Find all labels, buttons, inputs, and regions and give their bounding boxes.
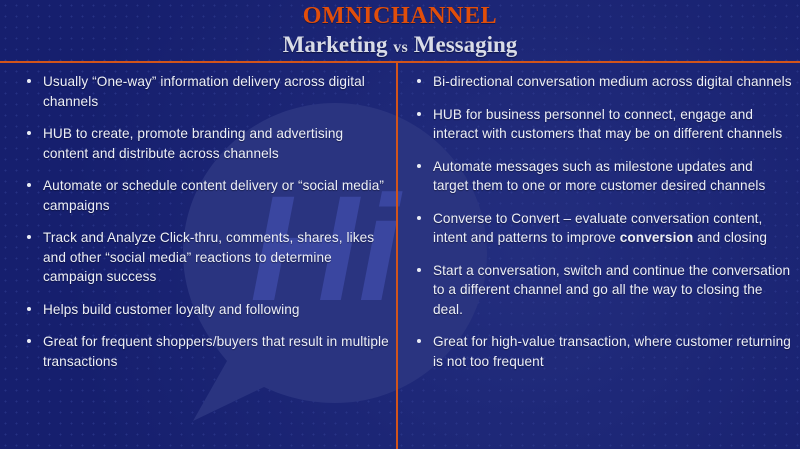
list-item-label: Helps build customer loyalty and followi…	[43, 302, 300, 317]
bullet-dot-icon	[417, 79, 421, 83]
bullet-dot-icon	[27, 131, 31, 135]
subtitle-marketing: Marketing	[283, 32, 388, 57]
list-item-emphasis: conversion	[620, 230, 694, 245]
list-item-label: Great for frequent shoppers/buyers that …	[43, 334, 389, 369]
list-item: Automate or schedule content delivery or…	[14, 176, 392, 215]
slide-canvas: Hi OMNICHANNEL Marketing vs Messaging Us…	[0, 0, 800, 449]
bullet-dot-icon	[417, 164, 421, 168]
bullet-dot-icon	[417, 339, 421, 343]
list-item: Start a conversation, switch and continu…	[404, 261, 792, 320]
list-item: Usually “One-way” information delivery a…	[14, 72, 392, 111]
column-divider-rule	[396, 63, 398, 449]
list-item: HUB to create, promote branding and adve…	[14, 124, 392, 163]
marketing-bullet-list: Usually “One-way” information delivery a…	[14, 63, 392, 371]
list-item: Great for frequent shoppers/buyers that …	[14, 332, 392, 371]
bullet-dot-icon	[27, 235, 31, 239]
subtitle-vs: vs	[393, 39, 408, 56]
list-item-label: Track and Analyze Click-thru, comments, …	[43, 230, 374, 284]
list-item: Great for high-value transaction, where …	[404, 332, 792, 371]
list-item-label: Automate messages such as milestone upda…	[433, 159, 765, 194]
bullet-dot-icon	[27, 339, 31, 343]
bullet-dot-icon	[417, 112, 421, 116]
marketing-column: Usually “One-way” information delivery a…	[14, 63, 392, 384]
list-item: HUB for business personnel to connect, e…	[404, 105, 792, 144]
list-item-label: HUB to create, promote branding and adve…	[43, 126, 343, 161]
header-divider-rule	[0, 61, 800, 63]
list-item: Converse to Convert – evaluate conversat…	[404, 209, 792, 248]
messaging-bullet-list: Bi-directional conversation medium acros…	[404, 63, 792, 371]
messaging-column: Bi-directional conversation medium acros…	[404, 63, 792, 384]
list-item-label: Usually “One-way” information delivery a…	[43, 74, 365, 109]
page-title: OMNICHANNEL	[0, 0, 800, 29]
bullet-dot-icon	[27, 79, 31, 83]
list-item-label: Bi-directional conversation medium acros…	[433, 74, 792, 89]
list-item-label: Automate or schedule content delivery or…	[43, 178, 384, 213]
list-item: Bi-directional conversation medium acros…	[404, 72, 792, 92]
list-item: Track and Analyze Click-thru, comments, …	[14, 228, 392, 287]
list-item-label: Start a conversation, switch and continu…	[433, 263, 790, 317]
bullet-dot-icon	[27, 307, 31, 311]
slide-header: OMNICHANNEL Marketing vs Messaging	[0, 0, 800, 62]
bullet-dot-icon	[417, 216, 421, 220]
bullet-dot-icon	[417, 268, 421, 272]
list-item-label: HUB for business personnel to connect, e…	[433, 107, 782, 142]
bullet-dot-icon	[27, 183, 31, 187]
list-item-label-tail: and closing	[693, 230, 767, 245]
list-item-label: Great for high-value transaction, where …	[433, 334, 791, 369]
list-item: Helps build customer loyalty and followi…	[14, 300, 392, 320]
list-item: Automate messages such as milestone upda…	[404, 157, 792, 196]
subtitle-messaging: Messaging	[414, 32, 518, 57]
page-subtitle: Marketing vs Messaging	[0, 29, 800, 61]
